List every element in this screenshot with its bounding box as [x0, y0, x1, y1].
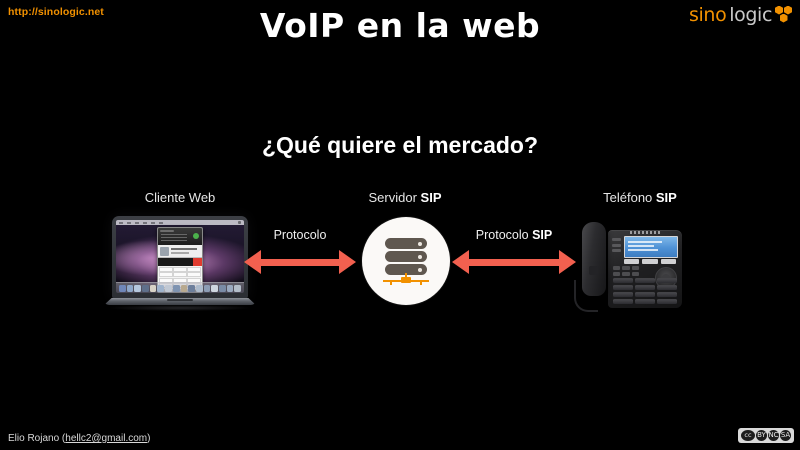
- node-label-server-text: Servidor: [369, 190, 421, 205]
- brand-name-primary: sino: [689, 4, 726, 26]
- arrow-head-right-icon: [559, 250, 576, 274]
- node-label-phone: Teléfono SIP: [560, 190, 720, 205]
- phone-lcd-screen: [624, 236, 678, 258]
- node-label-client: Cliente Web: [100, 190, 260, 205]
- laptop-base: [104, 298, 256, 305]
- server-rack-units: [383, 238, 429, 284]
- arrow-head-left-icon: [244, 250, 261, 274]
- phone-function-keys: [613, 266, 639, 276]
- macos-menubar: [116, 220, 244, 225]
- arrow-head-right-icon: [339, 250, 356, 274]
- node-label-server-strong: SIP: [421, 190, 442, 205]
- phone-body: [608, 230, 682, 308]
- cc-mark-icon: cc: [741, 430, 755, 441]
- hexagon-cluster-icon: [775, 6, 794, 25]
- server-network-base: [383, 277, 429, 284]
- ip-desk-phone-icon: [578, 218, 688, 316]
- brand-name-secondary: logic: [729, 4, 772, 26]
- phone-softkeys: [624, 259, 676, 264]
- phone-dial-keypad: [613, 278, 677, 304]
- footer-author-name: Elio Rojano (: [8, 433, 65, 444]
- arrow-server-phone: [452, 250, 576, 274]
- softphone-identity-row: [158, 245, 202, 258]
- edge-label-server-phone-text: Protocolo: [476, 228, 532, 242]
- softphone-titlebar: [158, 228, 202, 245]
- softphone-display: [158, 258, 202, 266]
- laptop-shadow: [110, 305, 250, 311]
- phone-line-keys: [612, 238, 621, 254]
- laptop-screen: [116, 220, 244, 293]
- footer-author-suffix: ): [147, 433, 150, 444]
- slide-question: ¿Qué quiere el mercado?: [0, 132, 800, 159]
- edge-label-client-server-text: Protocolo: [274, 228, 327, 242]
- arrow-head-left-icon: [452, 250, 469, 274]
- cc-nc-icon: NC: [768, 430, 779, 441]
- cc-by-icon: BY: [756, 430, 767, 441]
- server-rack-icon: [362, 217, 450, 305]
- architecture-diagram: Cliente Web Servidor SIP Teléfono SIP: [0, 190, 800, 340]
- node-label-server: Servidor SIP: [325, 190, 485, 205]
- laptop-lid: [112, 216, 248, 299]
- brand-logo[interactable]: sino logic: [689, 4, 794, 26]
- footer-author-email[interactable]: hellc2@gmail.com: [65, 433, 147, 444]
- edge-label-server-phone: Protocolo SIP: [448, 228, 580, 242]
- cc-sa-icon: SA: [780, 430, 791, 441]
- node-label-client-text: Cliente Web: [145, 190, 216, 205]
- arrow-shaft: [260, 259, 340, 266]
- edge-label-client-server: Protocolo: [240, 228, 360, 242]
- node-label-phone-strong: SIP: [656, 190, 677, 205]
- macos-dock: [116, 282, 244, 293]
- page-title: VoIP en la web: [0, 6, 800, 45]
- footer-author: Elio Rojano (hellc2@gmail.com): [8, 433, 150, 444]
- avatar: [160, 247, 169, 256]
- phone-cord: [574, 280, 598, 312]
- slide-root: { "header": { "site_url": "http://sinolo…: [0, 0, 800, 450]
- edge-label-server-phone-strong: SIP: [532, 228, 552, 242]
- arrow-client-server: [244, 250, 356, 274]
- arrow-shaft: [468, 259, 560, 266]
- macbook-laptop-icon: [104, 216, 256, 316]
- node-label-phone-text: Teléfono: [603, 190, 656, 205]
- creative-commons-license-badge[interactable]: cc BY NC SA: [738, 428, 794, 443]
